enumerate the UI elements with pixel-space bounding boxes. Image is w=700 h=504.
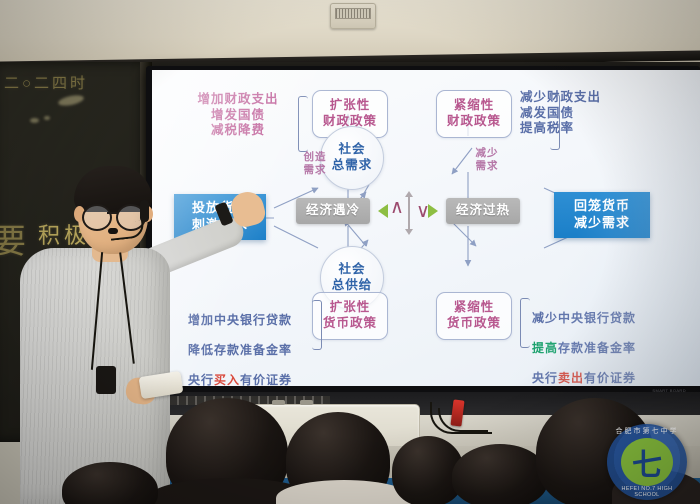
- box-fiscal-contraction[interactable]: 紧缩性 财政政策: [436, 90, 512, 138]
- chalk-smudge: [30, 118, 39, 123]
- blackboard-chalk-circle: 要: [0, 214, 26, 263]
- left-brace: [298, 96, 308, 152]
- label-create-demand: 创造 需求: [298, 152, 332, 177]
- left-fiscal-measures: 增加财政支出 增发国债 减税降费: [182, 92, 294, 139]
- double-arrow-vertical-icon: [408, 196, 410, 230]
- school-watermark: 七 合肥市第七中学 HEFEI NO.7 HIGH SCHOOL: [601, 424, 693, 500]
- mic-transmitter: [96, 366, 116, 394]
- watermark-glyph-icon: 七: [621, 436, 673, 488]
- br-line-2: 提高存款准备金率: [532, 341, 696, 356]
- bl-line-2: 降低存款准备金率: [170, 343, 310, 358]
- watermark-name-cn: 合肥市第七中学: [611, 426, 683, 436]
- bl-line-3: 央行买入有价证券: [170, 373, 310, 386]
- headset-band: [140, 200, 149, 222]
- bottom-right-brace: [520, 298, 530, 348]
- eyeglasses-left-icon: [82, 204, 112, 231]
- headset-mic-icon: [108, 228, 118, 234]
- bl-line-1: 增加中央银行贷款: [170, 313, 310, 328]
- right-brace: [550, 94, 560, 150]
- bottom-right-measures: 减少中央银行贷款 提高存款准备金率 央行卖出有价证券: [532, 296, 696, 386]
- student-head: [452, 444, 548, 504]
- chalk-smudge: [44, 116, 50, 120]
- chevron-down-icon: ∨: [416, 202, 430, 221]
- bottom-left-brace: [312, 300, 322, 350]
- br-line-1: 减少中央银行贷款: [532, 311, 696, 326]
- chevron-up-icon: ∧: [390, 198, 404, 217]
- highlight-withdraw-money[interactable]: 回笼货币 减少需求: [554, 192, 650, 238]
- bottom-left-measures: 增加中央银行贷款 降低存款准备金率 央行买入有价证券: [170, 298, 310, 386]
- ceiling-vent-icon: [330, 3, 376, 29]
- blackboard-chalk-line-1: 二○二四时: [4, 72, 88, 93]
- box-economy-hot[interactable]: 经济过热: [446, 198, 520, 224]
- panel-knob: [272, 400, 285, 405]
- classroom-photo: 二○二四时 要 积极 偏热 冷 SMART BOARD: [0, 0, 700, 504]
- eyeglasses-bridge: [107, 212, 118, 214]
- right-fiscal-measures: 减少财政支出 减发国债 提高税率: [520, 90, 648, 137]
- watermark-name-en: HEFEI NO.7 HIGH SCHOOL: [609, 486, 685, 498]
- box-economy-cold[interactable]: 经济遇冷: [296, 198, 370, 224]
- box-monetary-expansion[interactable]: 扩张性 货币政策: [312, 292, 388, 340]
- box-monetary-contraction[interactable]: 紧缩性 货币政策: [436, 292, 512, 340]
- br-line-3: 央行卖出有价证券: [532, 371, 696, 386]
- label-reduce-demand: 减少 需求: [470, 148, 504, 173]
- arrow-left-green-icon: [378, 204, 388, 218]
- panel-knob: [300, 400, 313, 405]
